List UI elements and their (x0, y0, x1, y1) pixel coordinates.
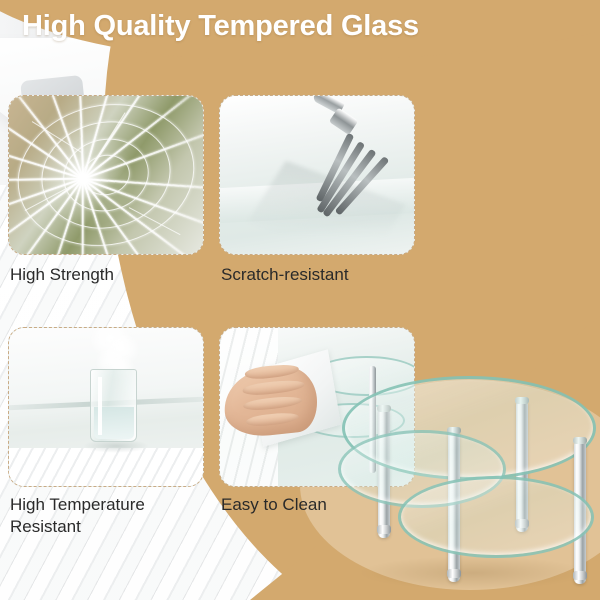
product-feature-banner: High Quality Tempered Glass (0, 0, 600, 600)
hot-water-glass-photo (9, 328, 203, 486)
fork-on-glass-photo (220, 96, 414, 254)
table-lower-shelf-glass (398, 476, 594, 558)
feature-card-high-strength (8, 95, 204, 255)
floor-strip (9, 448, 203, 486)
feature-card-scratch-resistant (219, 95, 415, 255)
feature-card-high-temperature-resistant (8, 327, 204, 487)
drinking-glass (90, 369, 137, 442)
page-title: High Quality Tempered Glass (22, 10, 419, 43)
feature-caption-scratch-resistant: Scratch-resistant (221, 264, 349, 286)
product-glass-coffee-table (338, 368, 600, 600)
feature-caption-high-strength: High Strength (10, 264, 114, 286)
shattered-glass-photo (9, 96, 203, 254)
table-shadow (358, 556, 588, 590)
feature-caption-easy-to-clean: Easy to Clean (221, 494, 327, 516)
feature-caption-high-temperature-resistant: High Temperature Resistant (10, 494, 210, 538)
